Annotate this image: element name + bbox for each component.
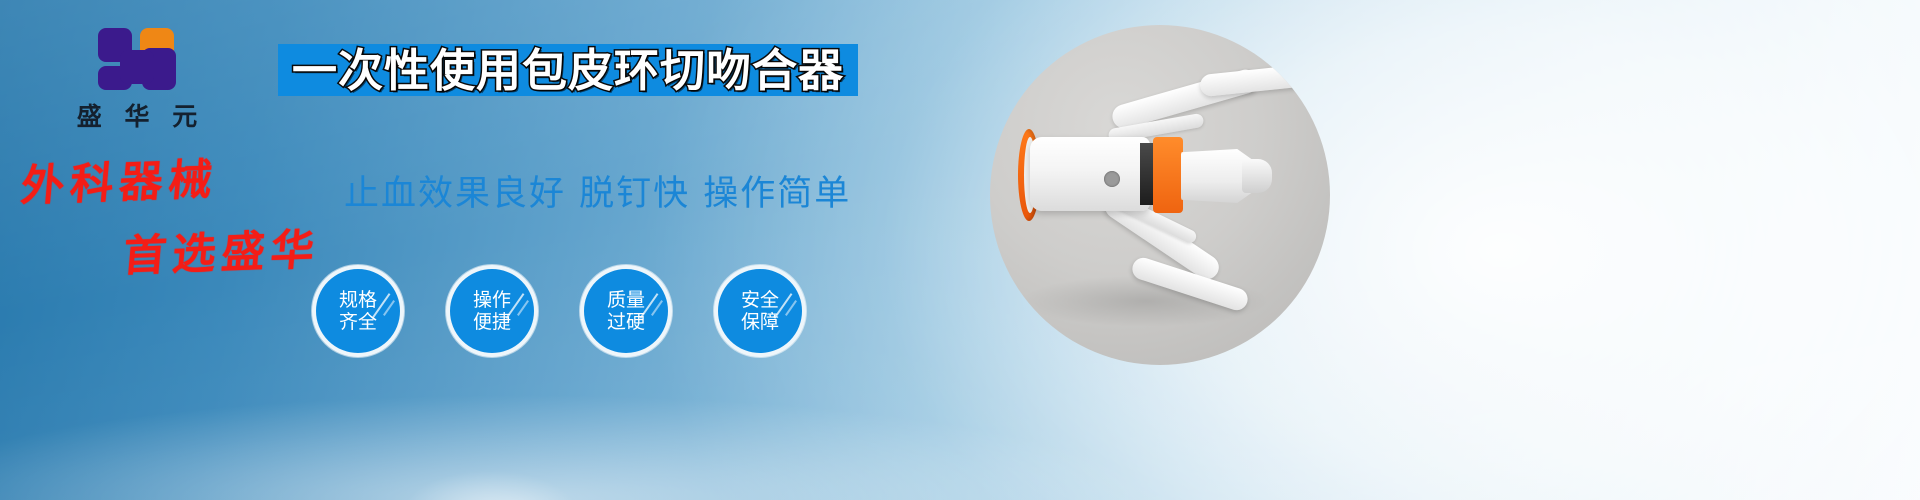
badge-slash-icon xyxy=(383,300,395,316)
page-title: 一次性使用包皮环切吻合器 xyxy=(292,48,844,93)
logo-block-center xyxy=(120,50,154,84)
background-faint-arc xyxy=(400,470,580,500)
badge-line-1: 规格 xyxy=(339,289,377,311)
badge-line-1: 安全 xyxy=(741,289,779,311)
badge-line-2: 齐全 xyxy=(339,311,377,333)
slogan-line-1: 外科器械 xyxy=(19,140,352,213)
badge-slash-icon xyxy=(517,300,529,316)
badge-line-1: 质量 xyxy=(607,289,645,311)
feature-badge[interactable]: 质量 过硬 xyxy=(580,265,672,357)
title-band: 一次性使用包皮环切吻合器 xyxy=(278,44,858,96)
promo-banner: 盛 华 元 外科器械 首选盛华 一次性使用包皮环切吻合器 止血效果良好 脱钉快 … xyxy=(0,0,1920,500)
badge-line-2: 便捷 xyxy=(473,311,511,333)
feature-badge[interactable]: 安全 保障 xyxy=(714,265,806,357)
device-pivot xyxy=(1104,171,1120,187)
feature-badge[interactable]: 规格 齐全 xyxy=(312,265,404,357)
background-bottom-glow xyxy=(0,380,1920,500)
feature-badge-list: 规格 齐全 操作 便捷 质量 过硬 安全 保障 xyxy=(312,265,806,357)
badge-line-1: 操作 xyxy=(473,289,511,311)
feature-badge[interactable]: 操作 便捷 xyxy=(446,265,538,357)
badge-slash-icon xyxy=(785,300,797,316)
device-tip xyxy=(1242,159,1272,193)
badge-line-2: 保障 xyxy=(741,311,779,333)
badge-line-2: 过硬 xyxy=(607,311,645,333)
badge-slash-icon xyxy=(651,300,663,316)
device-black-band xyxy=(1140,143,1154,205)
company-logo[interactable]: 盛 华 元 xyxy=(62,28,212,133)
device-upper-arm-tip xyxy=(1199,63,1321,97)
product-photo xyxy=(990,25,1330,365)
device-orange-collar xyxy=(1153,137,1183,213)
company-name: 盛 华 元 xyxy=(62,97,212,133)
calligraphy-slogan: 外科器械 首选盛华 xyxy=(18,146,348,280)
logo-mark-icon xyxy=(98,28,176,90)
device-white-barrel xyxy=(1030,137,1150,211)
subtitle: 止血效果良好 脱钉快 操作简单 xyxy=(344,165,851,216)
